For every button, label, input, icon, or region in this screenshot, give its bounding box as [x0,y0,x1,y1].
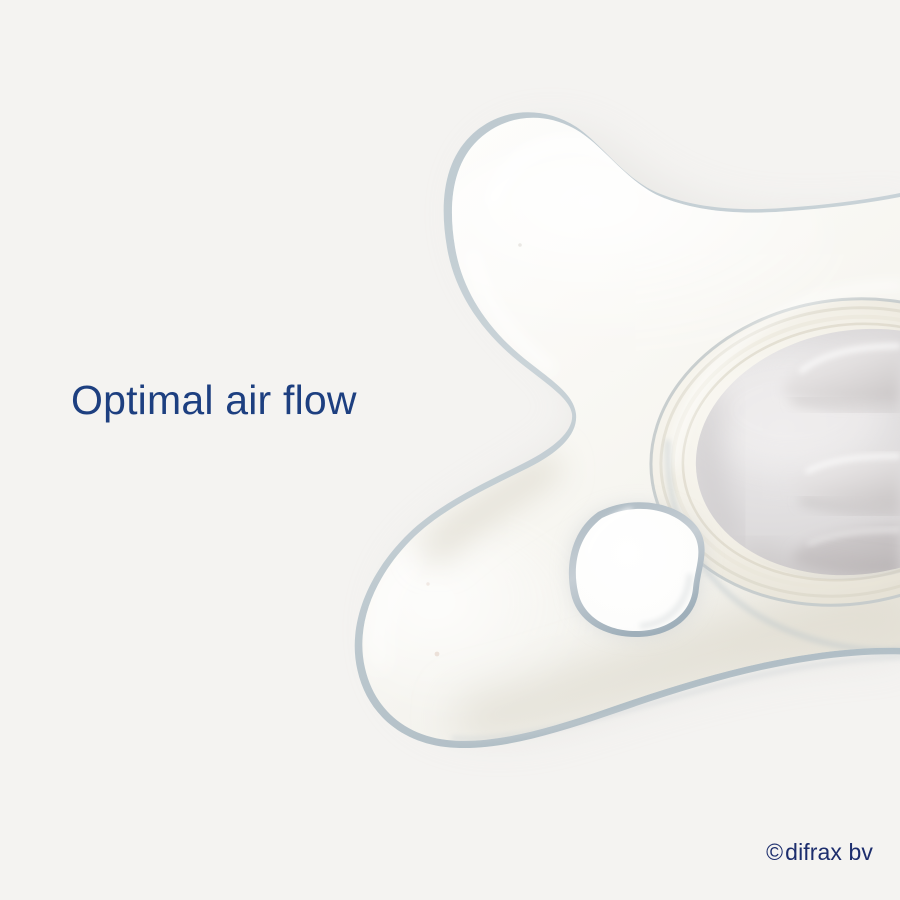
pacifier-product-image [0,0,900,900]
copyright-owner: difrax bv [785,839,873,865]
product-feature-image: Optimal air flow ©difrax bv [0,0,900,900]
air-hole [569,502,705,637]
copyright-notice: ©difrax bv [766,839,873,866]
air-hole-opening [576,509,699,631]
copyright-icon: © [766,839,783,865]
page-title: Optimal air flow [71,378,357,423]
